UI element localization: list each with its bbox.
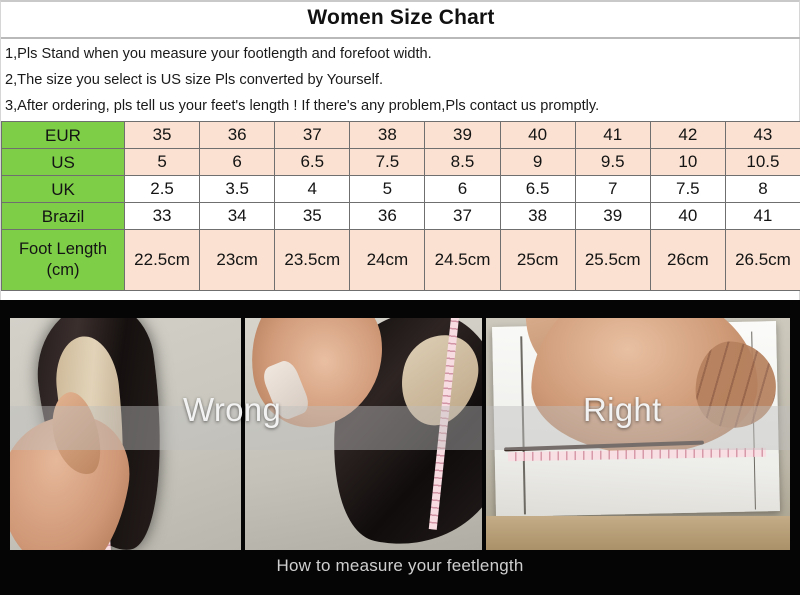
cell-us-7: 9.5 <box>575 149 650 176</box>
foot-length-label-line-2: (cm) <box>47 261 80 279</box>
pencil-mark-heel <box>520 336 525 514</box>
cell-us-6: 9 <box>500 149 575 176</box>
table-row-us: US 5 6 6.5 7.5 8.5 9 9.5 10 10.5 <box>2 149 800 176</box>
cell-foot-length-6: 25cm <box>500 230 575 291</box>
cell-eur-2: 36 <box>200 122 275 149</box>
row-label-eur: EUR <box>2 122 125 149</box>
cell-foot-length-8: 26cm <box>650 230 725 291</box>
cell-brazil-7: 39 <box>575 203 650 230</box>
cell-uk-5: 6 <box>425 176 500 203</box>
cell-eur-8: 42 <box>650 122 725 149</box>
cell-uk-7: 7 <box>575 176 650 203</box>
photo-row <box>10 318 790 550</box>
cell-uk-2: 3.5 <box>200 176 275 203</box>
cell-eur-5: 39 <box>425 122 500 149</box>
cell-brazil-8: 40 <box>650 203 725 230</box>
photo-caption: How to measure your feetlength <box>0 556 800 576</box>
cell-eur-7: 41 <box>575 122 650 149</box>
photo-wrong-1 <box>10 318 241 550</box>
cell-foot-length-3: 23.5cm <box>275 230 350 291</box>
title-divider <box>1 37 800 39</box>
cell-uk-8: 7.5 <box>650 176 725 203</box>
cell-foot-length-7: 25.5cm <box>575 230 650 291</box>
cell-us-5: 8.5 <box>425 149 500 176</box>
cell-foot-length-5: 24.5cm <box>425 230 500 291</box>
cell-brazil-1: 33 <box>125 203 200 230</box>
cell-brazil-4: 36 <box>350 203 425 230</box>
cell-us-8: 10 <box>650 149 725 176</box>
cell-foot-length-4: 24cm <box>350 230 425 291</box>
table-row-uk: UK 2.5 3.5 4 5 6 6.5 7 7.5 8 <box>2 176 800 203</box>
cell-uk-1: 2.5 <box>125 176 200 203</box>
cell-uk-6: 6.5 <box>500 176 575 203</box>
desk-surface <box>486 516 790 550</box>
instruction-notes: 1,Pls Stand when you measure your footle… <box>5 41 797 119</box>
cell-foot-length-1: 22.5cm <box>125 230 200 291</box>
row-label-brazil: Brazil <box>2 203 125 230</box>
cell-eur-4: 38 <box>350 122 425 149</box>
note-line-2: 2,The size you select is US size Pls con… <box>5 67 797 93</box>
cell-brazil-6: 38 <box>500 203 575 230</box>
photo-right <box>486 318 790 550</box>
row-label-us: US <box>2 149 125 176</box>
photo-wrong-2 <box>245 318 482 550</box>
cell-eur-9: 43 <box>725 122 800 149</box>
size-conversion-table: EUR 35 36 37 38 39 40 41 42 43 US 5 6 6.… <box>1 121 800 291</box>
note-line-1: 1,Pls Stand when you measure your footle… <box>5 41 797 67</box>
cell-brazil-2: 34 <box>200 203 275 230</box>
cell-eur-3: 37 <box>275 122 350 149</box>
table-row-foot-length: Foot Length (cm) 22.5cm 23cm 23.5cm 24cm… <box>2 230 800 291</box>
foot-length-label-line-1: Foot Length <box>19 240 107 258</box>
size-chart-card: Women Size Chart 1,Pls Stand when you me… <box>0 0 800 300</box>
cell-us-4: 7.5 <box>350 149 425 176</box>
cell-us-3: 6.5 <box>275 149 350 176</box>
cell-brazil-5: 37 <box>425 203 500 230</box>
cell-us-2: 6 <box>200 149 275 176</box>
how-to-measure-panel: Wrong Right How to measure your feetleng… <box>0 300 800 595</box>
cell-us-1: 5 <box>125 149 200 176</box>
row-label-uk: UK <box>2 176 125 203</box>
cell-uk-3: 4 <box>275 176 350 203</box>
row-label-foot-length: Foot Length (cm) <box>2 230 125 291</box>
page-title: Women Size Chart <box>1 6 800 30</box>
table-row-brazil: Brazil 33 34 35 36 37 38 39 40 41 <box>2 203 800 230</box>
table-row-eur: EUR 35 36 37 38 39 40 41 42 43 <box>2 122 800 149</box>
cell-us-9: 10.5 <box>725 149 800 176</box>
cell-foot-length-9: 26.5cm <box>725 230 800 291</box>
cell-eur-6: 40 <box>500 122 575 149</box>
cell-foot-length-2: 23cm <box>200 230 275 291</box>
size-chart-page: Women Size Chart 1,Pls Stand when you me… <box>0 0 800 595</box>
cell-uk-9: 8 <box>725 176 800 203</box>
note-line-3: 3,After ordering, pls tell us your feet'… <box>5 93 797 119</box>
cell-eur-1: 35 <box>125 122 200 149</box>
cell-brazil-9: 41 <box>725 203 800 230</box>
cell-brazil-3: 35 <box>275 203 350 230</box>
cell-uk-4: 5 <box>350 176 425 203</box>
